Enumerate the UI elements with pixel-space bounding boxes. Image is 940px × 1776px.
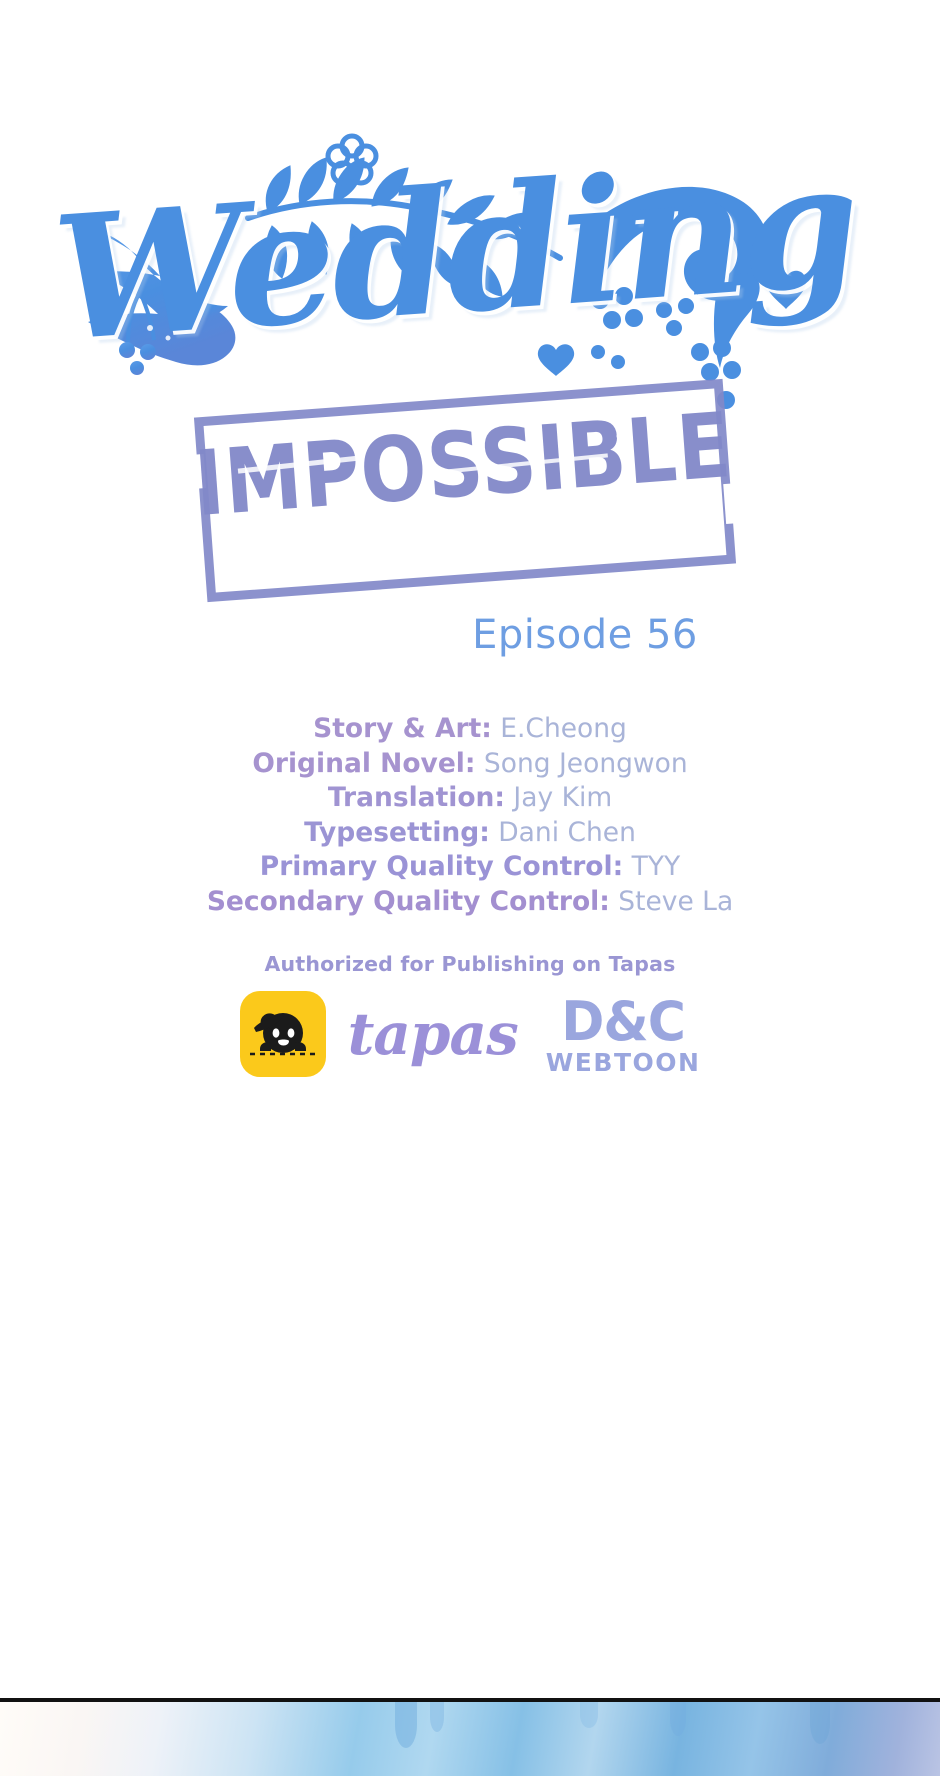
ribbon-swirl-decoration [538,187,806,381]
credit-row: Original Novel: Song Jeongwon [0,747,940,782]
title-page: Wedding IMPOSSIBLE Episode 56 Story & Ar… [0,0,940,1776]
heart-icon [538,344,574,376]
watercolor-background [0,1702,940,1776]
tapas-wordmark: tapas [348,1005,518,1063]
heart-icon [766,271,806,309]
credit-label: Secondary Quality Control: [207,886,610,917]
watercolor-drip [430,1702,444,1732]
credit-value: Jay Kim [505,782,612,813]
credit-row: Typesetting: Dani Chen [0,816,940,851]
credit-label: Primary Quality Control: [260,851,623,882]
credit-label: Translation: [328,782,505,813]
watercolor-drip [810,1702,830,1744]
watercolor-drip [395,1702,417,1748]
credit-value: Dani Chen [490,817,636,848]
credit-value: E.Cheong [492,713,627,744]
credit-value: TYY [623,851,680,882]
watercolor-drip [580,1702,598,1728]
credit-label: Story & Art: [313,713,492,744]
dnc-logo-main: D&C [561,994,685,1049]
credit-row: Story & Art: E.Cheong [0,712,940,747]
publisher-logo-row: tapas D&C WEBTOON [0,984,940,1084]
swallow-bird-icon [88,228,235,375]
floral-branch-decoration [248,136,560,296]
flower-icon [328,136,376,183]
tapas-logo-icon [240,991,326,1077]
impossible-stamp: IMPOSSIBLE [194,379,736,602]
watercolor-drip [670,1702,686,1736]
credit-label: Original Novel: [252,748,475,779]
credit-value: Song Jeongwon [475,748,687,779]
credit-label: Typesetting: [304,817,490,848]
credits-block: Story & Art: E.Cheong Original Novel: So… [0,712,940,919]
credit-row: Primary Quality Control: TYY [0,850,940,885]
credit-row: Translation: Jay Kim [0,781,940,816]
credit-row: Secondary Quality Control: Steve La [0,885,940,920]
publishing-note: Authorized for Publishing on Tapas [0,952,940,976]
credit-value: Steve La [610,886,733,917]
episode-label: Episode 56 [0,612,940,658]
dnc-webtoon-logo: D&C WEBTOON [546,996,701,1075]
